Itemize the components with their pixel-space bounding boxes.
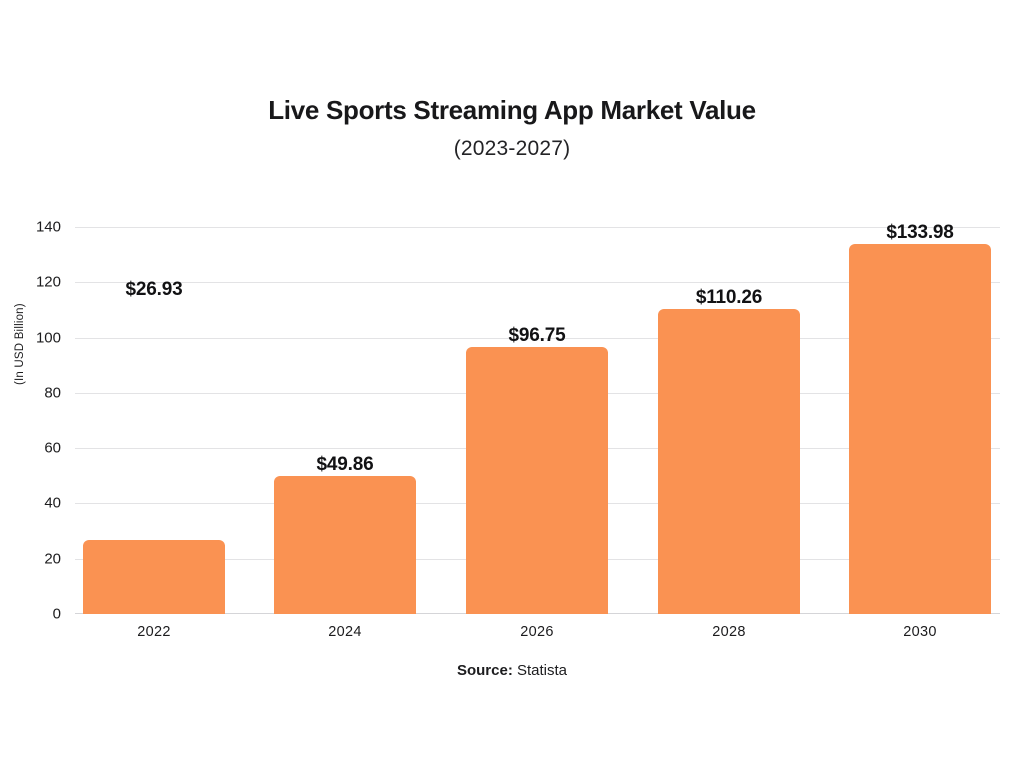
bar-2030[interactable] bbox=[849, 244, 991, 614]
page-title: Live Sports Streaming App Market Value bbox=[0, 96, 1024, 126]
title-block: Live Sports Streaming App Market Value (… bbox=[0, 96, 1024, 161]
y-tick-label-40: 40 bbox=[15, 495, 61, 512]
y-tick-label-140: 140 bbox=[15, 219, 61, 236]
y-tick-label-20: 20 bbox=[15, 550, 61, 567]
source-note: Source: Statista bbox=[0, 662, 1024, 679]
x-tick-label-2028: 2028 bbox=[658, 624, 800, 640]
x-tick-label-2024: 2024 bbox=[274, 624, 416, 640]
bar-value-2030: $133.98 bbox=[849, 222, 991, 244]
x-tick-label-2026: 2026 bbox=[466, 624, 608, 640]
bar-2024[interactable] bbox=[274, 476, 416, 614]
y-tick-label-60: 60 bbox=[15, 440, 61, 457]
bar-value-2022: $26.93 bbox=[83, 279, 225, 301]
bar-2022[interactable] bbox=[83, 540, 225, 614]
y-tick-label-100: 100 bbox=[15, 329, 61, 346]
chart-figure: Live Sports Streaming App Market Value (… bbox=[0, 0, 1024, 768]
x-tick-label-2030: 2030 bbox=[849, 624, 991, 640]
plot-area: 140 120 100 80 60 40 20 0 $26.93 2022 $4… bbox=[75, 227, 1000, 614]
source-value: Statista bbox=[517, 662, 567, 679]
chart-subtitle: (2023-2027) bbox=[0, 137, 1024, 161]
bar-value-2026: $96.75 bbox=[466, 325, 608, 347]
y-tick-label-0: 0 bbox=[15, 606, 61, 623]
y-tick-label-80: 80 bbox=[15, 384, 61, 401]
bar-value-2028: $110.26 bbox=[658, 287, 800, 309]
bar-value-2024: $49.86 bbox=[274, 454, 416, 476]
y-tick-label-120: 120 bbox=[15, 274, 61, 291]
x-tick-label-2022: 2022 bbox=[83, 624, 225, 640]
source-label: Source: bbox=[457, 662, 513, 679]
bar-2026[interactable] bbox=[466, 347, 608, 614]
bar-2028[interactable] bbox=[658, 309, 800, 614]
